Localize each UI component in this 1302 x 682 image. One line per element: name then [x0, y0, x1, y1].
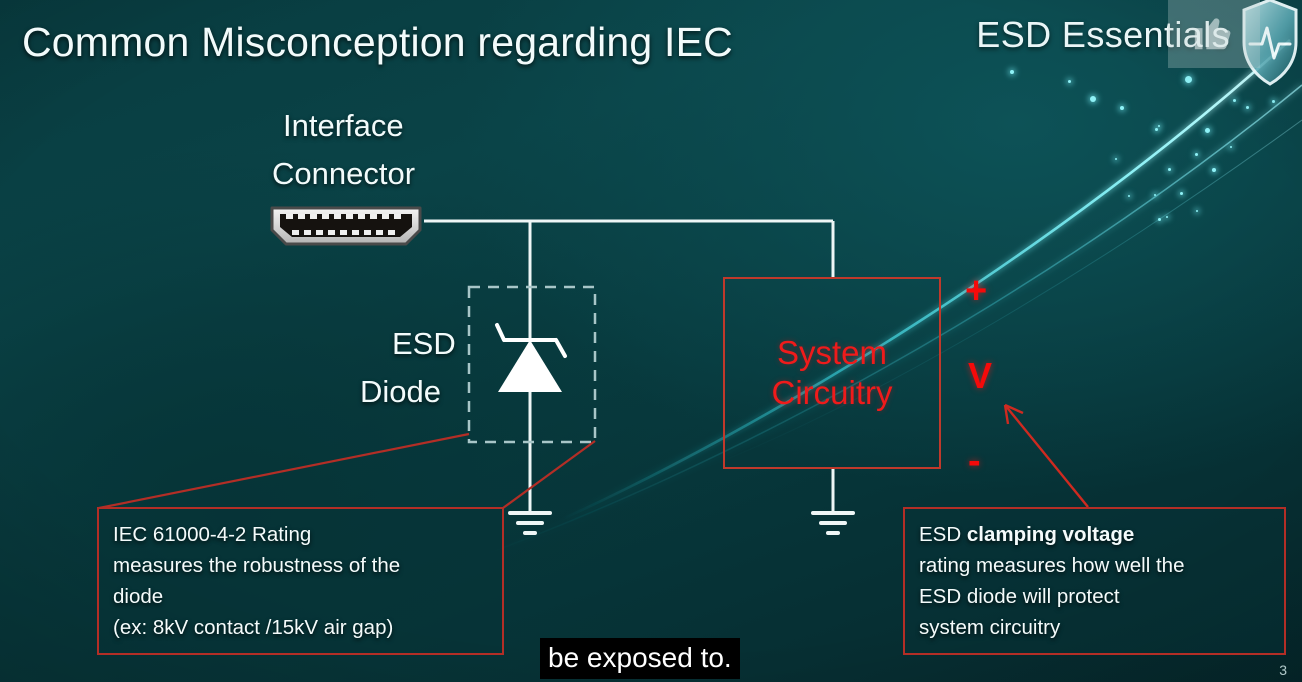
callout-iec-rating: IEC 61000-4-2 Rating measures the robust…: [97, 507, 504, 655]
callout-right-bold: clamping voltage: [967, 523, 1134, 546]
esd-diode-label-line1: ESD: [392, 326, 456, 362]
hdmi-connector-icon: [266, 203, 426, 249]
left-callout-leader-lines: [99, 434, 595, 508]
callout-right-prefix: ESD: [919, 523, 967, 546]
right-callout-arrow: [1005, 405, 1088, 507]
callout-left-line2: measures the robustness of the: [113, 550, 488, 581]
callout-right-line2: rating measures how well the: [919, 550, 1270, 581]
slide-stage: Common Misconception regarding IEC ESD E…: [0, 0, 1302, 682]
callout-left-line1: IEC 61000-4-2 Rating: [113, 519, 488, 550]
callout-right-line3: ESD diode will protect: [919, 581, 1270, 612]
esd-diode-label-line2: Diode: [360, 374, 441, 410]
callout-left-line3: diode: [113, 581, 488, 612]
polarity-minus-label: -: [968, 440, 981, 483]
callout-right-line1: ESD clamping voltage: [919, 519, 1270, 550]
polarity-plus-label: +: [965, 270, 987, 313]
interface-label-line1: Interface: [283, 108, 404, 144]
system-circuitry-line1: System: [777, 333, 887, 373]
callout-right-line4: system circuitry: [919, 612, 1270, 643]
video-subtitle: be exposed to.: [540, 638, 740, 679]
ground-symbol-diode: [510, 513, 550, 533]
polarity-voltage-label: V: [968, 355, 992, 397]
ground-symbol-system: [813, 513, 853, 533]
system-circuitry-text: System Circuitry: [723, 277, 941, 469]
page-number: 3: [1279, 662, 1287, 678]
system-circuitry-line2: Circuitry: [772, 373, 893, 413]
callout-clamping-voltage: ESD clamping voltage rating measures how…: [903, 507, 1286, 655]
interface-label-line2: Connector: [272, 156, 415, 192]
callout-left-line4: (ex: 8kV contact /15kV air gap): [113, 612, 488, 643]
